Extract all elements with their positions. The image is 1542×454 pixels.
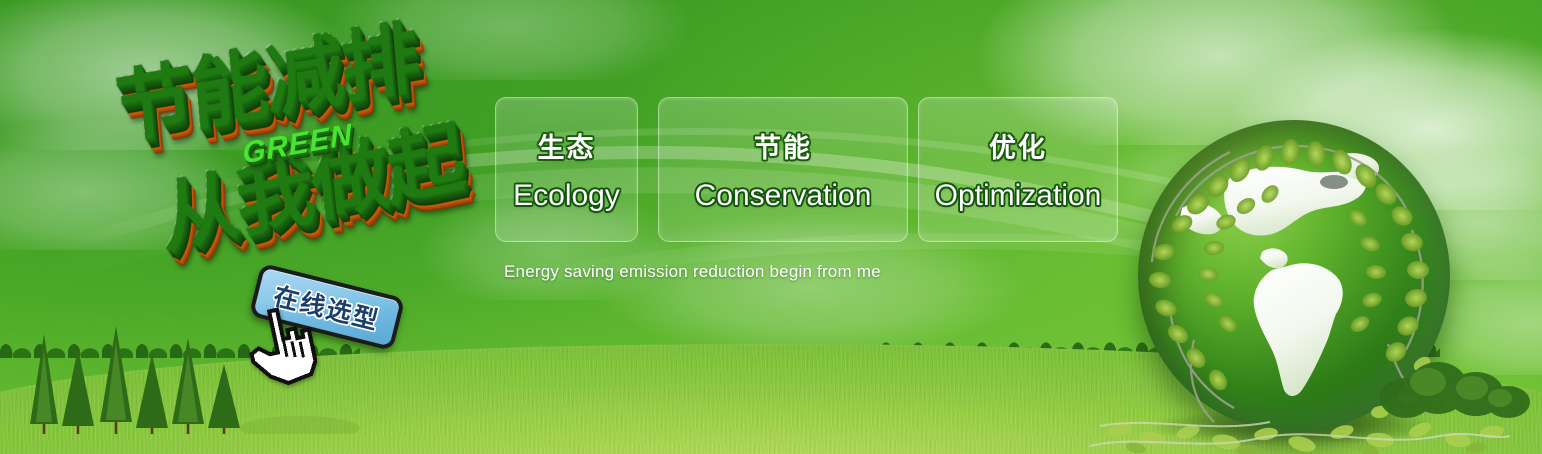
- tagline-text: Energy saving emission reduction begin f…: [504, 262, 881, 282]
- online-selection-cta[interactable]: 在线选型: [253, 272, 413, 357]
- feature-card-cn-label: 节能: [754, 126, 812, 165]
- leafy-earth-globe-icon: [1138, 120, 1450, 432]
- feature-card-cn-label: 优化: [989, 126, 1047, 165]
- feature-card-conservation[interactable]: 节能 Conservation: [658, 97, 908, 242]
- globe-continents: [1138, 120, 1450, 432]
- feature-card-cn-label: 生态: [538, 126, 596, 165]
- pointing-hand-cursor-icon: [243, 306, 317, 390]
- feature-card-en-label: Ecology: [513, 179, 620, 213]
- feature-card-en-label: Conservation: [695, 179, 872, 213]
- headline-3d: 节能减排 GREEN 从我做起: [97, 23, 492, 275]
- feature-card-en-label: Optimization: [935, 179, 1102, 213]
- eco-promo-banner: 节能减排 GREEN 从我做起 生态 Ecology 节能 Conservati…: [0, 0, 1542, 454]
- headline-line-1: 节能减排: [111, 16, 419, 147]
- feature-card-optimization[interactable]: 优化 Optimization: [918, 97, 1118, 242]
- feature-card-ecology[interactable]: 生态 Ecology: [495, 97, 638, 242]
